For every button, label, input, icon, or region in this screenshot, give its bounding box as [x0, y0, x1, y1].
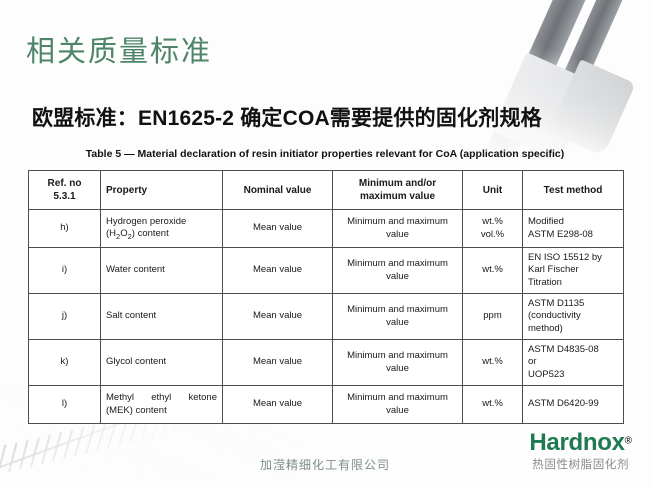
cell-min-max-line2: value [338, 405, 457, 417]
column-header-ref-no-line2: 5.3.1 [34, 190, 95, 203]
column-header-property: Property [101, 171, 223, 210]
cell-property: Water content [101, 248, 223, 294]
cell-nominal-value: Mean value [223, 248, 333, 294]
cell-ref-no: i) [29, 248, 101, 294]
column-header-ref-no: Ref. no 5.3.1 [29, 171, 101, 210]
cell-test-method-line2: or [528, 356, 618, 368]
cell-property-line2: (H2O2) content [106, 228, 217, 242]
formula-part-a: (H [106, 228, 116, 239]
cell-test-method-line3: Titration [528, 277, 618, 289]
cell-unit: wt.% [463, 248, 523, 294]
cell-test-method: ASTM D6420-99 [523, 386, 624, 424]
cell-test-method-line1: ASTM D1135 [528, 298, 618, 310]
cell-test-method-line1: ASTM D4835-08 [528, 344, 618, 356]
cell-min-max-line2: value [338, 271, 457, 283]
cell-unit: wt.% [463, 340, 523, 386]
cell-test-method-line1: EN ISO 15512 by [528, 252, 618, 264]
cell-unit-line1: wt.% [468, 398, 517, 410]
decorative-fade-overlay [470, 0, 650, 159]
table-caption: Table 5 — Material declaration of resin … [0, 148, 650, 160]
cell-min-max-value: Minimum and maximum value [333, 294, 463, 340]
brand-wordmark: Hardnox® [529, 431, 632, 455]
cell-test-method-line2: Karl Fischer [528, 264, 618, 276]
column-header-nominal-value: Nominal value [223, 171, 333, 210]
cell-min-max-line1: Minimum and maximum [338, 258, 457, 270]
table-header-row: Ref. no 5.3.1 Property Nominal value Min… [29, 171, 624, 210]
cell-test-method-line3: method) [528, 323, 618, 335]
brand-subtitle: 热固性树脂固化剂 [529, 460, 632, 472]
cell-unit: wt.% vol.% [463, 210, 523, 248]
cell-test-method-line1: ASTM D6420-99 [528, 398, 618, 410]
cell-test-method: ASTM D4835-08 or UOP523 [523, 340, 624, 386]
column-header-test-method: Test method [523, 171, 624, 210]
brand-logo: Hardnox® 热固性树脂固化剂 [529, 431, 632, 472]
cell-ref-no: h) [29, 210, 101, 248]
cell-unit-line1: wt.% [468, 216, 517, 228]
decorative-comb-rib [96, 422, 106, 451]
formula-part-b: O [120, 228, 127, 239]
cell-min-max-line1: Minimum and maximum [338, 350, 457, 362]
decorative-comb-rib [85, 425, 95, 454]
decorative-bar-2 [520, 0, 650, 159]
slide-canvas: 相关质量标准 欧盟标准：EN1625-2 确定COA需要提供的固化剂规格 Tab… [0, 0, 650, 487]
cell-property-line2: (MEK) content [106, 405, 217, 417]
cell-test-method-line2: ASTM E298-08 [528, 229, 618, 241]
cell-property: Hydrogen peroxide (H2O2) content [101, 210, 223, 248]
cell-property-line1: Glycol content [106, 356, 217, 368]
cell-nominal-value: Mean value [223, 386, 333, 424]
table-row: i) Water content Mean value Minimum and … [29, 248, 624, 294]
brand-name-text: Hardnox [529, 431, 624, 455]
cell-min-max-line2: value [338, 317, 457, 329]
cell-ref-no: k) [29, 340, 101, 386]
cell-min-max-line1: Minimum and maximum [338, 304, 457, 316]
cell-nominal-value: Mean value [223, 294, 333, 340]
cell-nominal-value: Mean value [223, 340, 333, 386]
cell-unit-line1: ppm [468, 310, 517, 322]
cell-unit: ppm [463, 294, 523, 340]
cell-test-method-line1: Modified [528, 216, 618, 228]
cell-test-method-line3: UOP523 [528, 369, 618, 381]
formula-part-c: ) content [132, 228, 169, 239]
cell-min-max-line2: value [338, 363, 457, 375]
cell-property-line1: Methyl ethyl ketone [106, 392, 217, 404]
cell-min-max-line1: Minimum and maximum [338, 216, 457, 228]
table-row: h) Hydrogen peroxide (H2O2) content Mean… [29, 210, 624, 248]
cell-min-max-line1: Minimum and maximum [338, 392, 457, 404]
cell-min-max-value: Minimum and maximum value [333, 248, 463, 294]
decorative-comb-rib [63, 430, 73, 459]
cell-test-method: ASTM D1135 (conductivity method) [523, 294, 624, 340]
cell-test-method: EN ISO 15512 by Karl Fischer Titration [523, 248, 624, 294]
page-title: 相关质量标准 [26, 28, 212, 70]
cell-property-line1: Water content [106, 264, 217, 276]
cell-property: Methyl ethyl ketone (MEK) content [101, 386, 223, 424]
cell-ref-no: j) [29, 294, 101, 340]
column-header-min-max-line2: maximum value [338, 190, 457, 203]
cell-unit-line1: wt.% [468, 356, 517, 368]
slide-subtitle: 欧盟标准：EN1625-2 确定COA需要提供的固化剂规格 [32, 102, 542, 132]
cell-unit-line2: vol.% [468, 229, 517, 241]
cell-min-max-line2: value [338, 229, 457, 241]
column-header-min-max-line1: Minimum and/or [338, 177, 457, 190]
decorative-bar-1 [476, 0, 609, 159]
cell-min-max-value: Minimum and maximum value [333, 340, 463, 386]
decorative-bar-tip-2 [548, 59, 635, 156]
cell-nominal-value: Mean value [223, 210, 333, 248]
spec-table: Ref. no 5.3.1 Property Nominal value Min… [28, 170, 624, 424]
cell-min-max-value: Minimum and maximum value [333, 386, 463, 424]
cell-test-method: Modified ASTM E298-08 [523, 210, 624, 248]
cell-min-max-value: Minimum and maximum value [333, 210, 463, 248]
column-header-unit: Unit [463, 171, 523, 210]
cell-property: Salt content [101, 294, 223, 340]
cell-property: Glycol content [101, 340, 223, 386]
decorative-strip-image [470, 0, 650, 159]
table-row: j) Salt content Mean value Minimum and m… [29, 294, 624, 340]
registered-trademark-icon: ® [625, 435, 632, 446]
column-header-min-max-value: Minimum and/or maximum value [333, 171, 463, 210]
table-row: l) Methyl ethyl ketone (MEK) content Mea… [29, 386, 624, 424]
cell-unit-line1: wt.% [468, 264, 517, 276]
column-header-ref-no-line1: Ref. no [34, 177, 95, 190]
cell-property-line1: Hydrogen peroxide [106, 216, 217, 228]
cell-ref-no: l) [29, 386, 101, 424]
cell-test-method-line2: (conductivity [528, 310, 618, 322]
decorative-comb-rib [74, 427, 84, 456]
cell-property-line1: Salt content [106, 310, 217, 322]
cell-unit: wt.% [463, 386, 523, 424]
table-row: k) Glycol content Mean value Minimum and… [29, 340, 624, 386]
